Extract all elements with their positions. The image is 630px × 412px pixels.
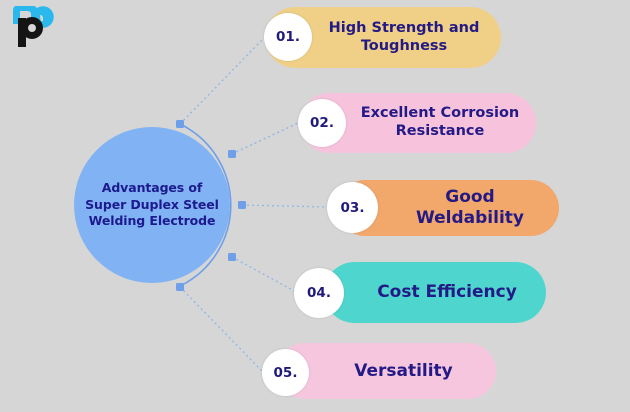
center-topic-title: Advantages of Super Duplex Steel Welding…	[77, 180, 227, 231]
brand-logo	[10, 6, 60, 48]
connector-line-5	[180, 287, 262, 371]
advantage-number-badge-1: 01.	[264, 13, 312, 61]
connector-node-2	[228, 150, 236, 158]
connector-node-5	[176, 283, 184, 291]
connector-line-4	[232, 257, 296, 292]
center-topic-circle: Advantages of Super Duplex Steel Welding…	[74, 127, 230, 283]
advantage-pill-4[interactable]: Cost Efficiency	[324, 262, 546, 323]
connector-node-4	[228, 253, 236, 261]
connector-node-3	[238, 201, 246, 209]
advantage-number-badge-2: 02.	[298, 99, 346, 147]
brand-logo-mark	[10, 6, 60, 48]
advantage-pill-5[interactable]: Versatility	[277, 343, 496, 399]
connector-line-3	[242, 205, 328, 207]
connector-line-2	[232, 123, 298, 154]
infographic-canvas: Advantages of Super Duplex Steel Welding…	[0, 0, 630, 412]
advantage-number-badge-4: 04.	[294, 268, 344, 318]
advantage-number-badge-5: 05.	[262, 349, 309, 396]
advantage-number-badge-3: 03.	[327, 182, 378, 233]
connector-node-1	[176, 120, 184, 128]
advantage-label-5: Versatility	[277, 361, 496, 382]
connector-line-1	[180, 40, 262, 124]
advantage-label-4: Cost Efficiency	[324, 282, 546, 303]
